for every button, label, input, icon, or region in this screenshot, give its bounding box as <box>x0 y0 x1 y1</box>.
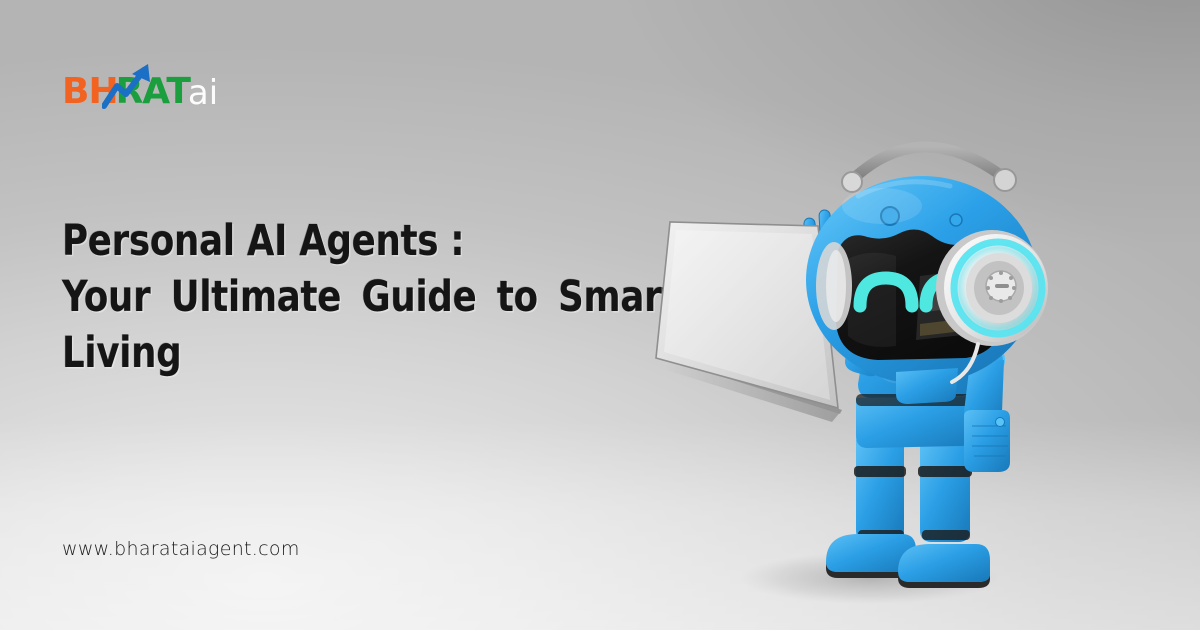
knee-joint-left <box>854 466 906 477</box>
robot-with-laptop-illustration <box>620 110 1090 610</box>
headline-line-2: Your Ultimate Guide to Smarter <box>62 270 623 326</box>
headphone-earcup-left <box>816 242 852 330</box>
website-url[interactable]: www.bharataiagent.com <box>62 538 300 560</box>
headphone-hinge-left <box>842 172 862 192</box>
social-banner: BH RAT ai Personal AI Agents : Your Ulti… <box>0 0 1200 630</box>
logo-text-ai: ai <box>188 76 218 110</box>
headphone-band <box>852 147 1002 180</box>
headphone-earcup-right <box>936 230 1048 346</box>
headline-line-3: Living <box>62 326 623 382</box>
knee-joint-right <box>918 466 972 477</box>
robot-hand-down <box>964 410 1010 472</box>
logo-text-bh: BH <box>62 74 118 110</box>
ankle-joint-right <box>922 530 970 540</box>
headline-line-1: Personal AI Agents : <box>62 214 623 270</box>
headphone-hinge-right <box>994 169 1016 191</box>
logo-text-rat: RAT <box>116 74 190 110</box>
bharatai-logo[interactable]: BH RAT ai <box>62 58 218 110</box>
page-title: Personal AI Agents : Your Ultimate Guide… <box>62 214 623 382</box>
robot-legs <box>854 440 972 542</box>
